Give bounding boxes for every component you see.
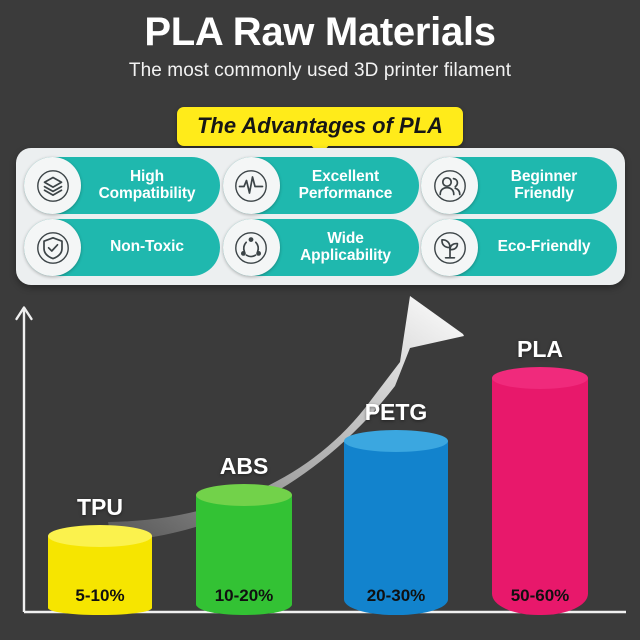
bar-label-abs: ABS <box>196 453 292 480</box>
advantage-label: Eco-Friendly <box>477 239 611 255</box>
advantages-panel: HighCompatibility ExcellentPerformance <box>16 148 625 285</box>
bar-value-pla: 50-60% <box>492 586 588 606</box>
advantage-label: Non-Toxic <box>80 239 214 255</box>
advantages-ribbon: The Advantages of PLA <box>177 107 463 146</box>
ribbon-label: The Advantages of PLA <box>197 113 443 138</box>
advantage-excellent-performance[interactable]: ExcellentPerformance <box>223 157 419 214</box>
advantage-high-compatibility[interactable]: HighCompatibility <box>24 157 220 214</box>
bar-label-pla: PLA <box>492 336 588 363</box>
advantage-non-toxic[interactable]: Non-Toxic <box>24 219 220 276</box>
bar-value-abs: 10-20% <box>196 586 292 606</box>
advantage-label: ExcellentPerformance <box>279 169 413 202</box>
advantages-row-bottom: Non-Toxic WideApplicability <box>24 219 617 276</box>
ribbon-container: The Advantages of PLA <box>0 107 640 146</box>
pulse-icon <box>223 157 280 214</box>
advantage-wide-applicability[interactable]: WideApplicability <box>223 219 419 276</box>
advantage-label: HighCompatibility <box>80 169 214 202</box>
bar-pla: PLA 50-60% <box>492 367 588 615</box>
bar-abs: ABS 10-20% <box>196 484 292 615</box>
bar-tpu: TPU 5-10% <box>48 525 152 615</box>
bar-value-petg: 20-30% <box>344 586 448 606</box>
bar-top-ellipse <box>196 484 292 506</box>
advantage-eco-friendly[interactable]: Eco-Friendly <box>421 219 617 276</box>
bar-chart: TPU 5-10% ABS 10-20% PETG 20-30% PLA 50-… <box>0 290 640 640</box>
advantage-label: WideApplicability <box>279 231 413 264</box>
bar-label-petg: PETG <box>344 399 448 426</box>
bar-petg: PETG 20-30% <box>344 430 448 615</box>
page-title: PLA Raw Materials <box>0 0 640 53</box>
advantages-row-top: HighCompatibility ExcellentPerformance <box>24 157 617 214</box>
bar-value-tpu: 5-10% <box>48 586 152 606</box>
bar-top-ellipse <box>492 367 588 389</box>
bar-label-tpu: TPU <box>48 494 152 521</box>
shield-check-icon <box>24 219 81 276</box>
sprout-icon <box>421 219 478 276</box>
bar-body <box>492 378 588 615</box>
people-icon <box>421 157 478 214</box>
header: PLA Raw Materials The most commonly used… <box>0 0 640 82</box>
bar-top-ellipse <box>344 430 448 452</box>
advantage-beginner-friendly[interactable]: BeginnerFriendly <box>421 157 617 214</box>
share-nodes-icon <box>223 219 280 276</box>
layers-icon <box>24 157 81 214</box>
advantage-label: BeginnerFriendly <box>477 169 611 202</box>
bar-top-ellipse <box>48 525 152 547</box>
page-subtitle: The most commonly used 3D printer filame… <box>0 53 640 82</box>
